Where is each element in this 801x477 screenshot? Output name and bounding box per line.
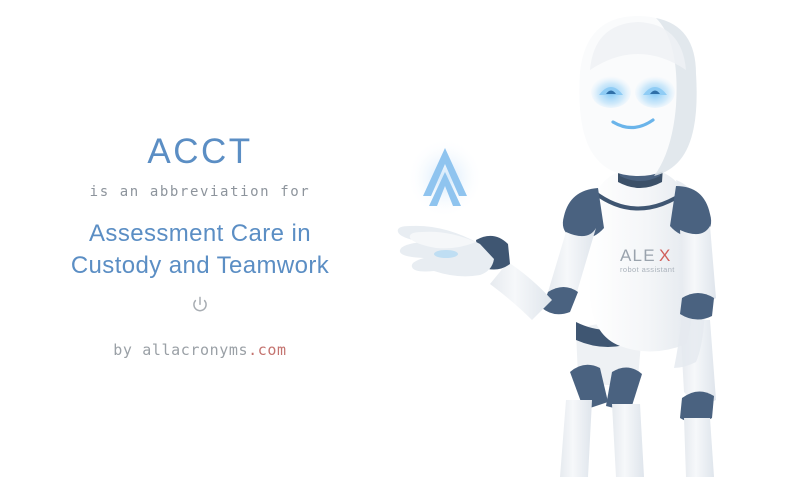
credit-tld: .com [248, 341, 287, 359]
definition-text: Assessment Care in Custody and Teamwork [0, 218, 400, 282]
robot-illustration: ALE X robot assistant [380, 0, 801, 477]
definition-line-2: Custody and Teamwork [0, 250, 400, 282]
badge-subtitle: robot assistant [620, 265, 675, 274]
badge-name-accent: X [659, 246, 672, 265]
credit-prefix: by [113, 341, 142, 359]
power-icon [192, 296, 208, 314]
robot-left-arm [476, 188, 604, 320]
page-title: ACCT [0, 132, 400, 172]
definition-line-1: Assessment Care in [0, 218, 400, 250]
acronym-definition-card: ACCT is an abbreviation for Assessment C… [0, 0, 801, 477]
text-panel: ACCT is an abbreviation for Assessment C… [0, 0, 400, 477]
credit-site-name: allacronyms [142, 341, 248, 359]
robot-open-palm [398, 226, 494, 277]
robot-svg: ALE X robot assistant [380, 0, 801, 477]
badge-name: ALE [620, 246, 656, 265]
abbreviation-label: is an abbreviation for [0, 182, 400, 202]
site-credit[interactable]: by allacronyms.com [0, 341, 400, 359]
power-icon-wrapper [0, 296, 400, 314]
robot-chest-badge: ALE X robot assistant [620, 246, 675, 274]
